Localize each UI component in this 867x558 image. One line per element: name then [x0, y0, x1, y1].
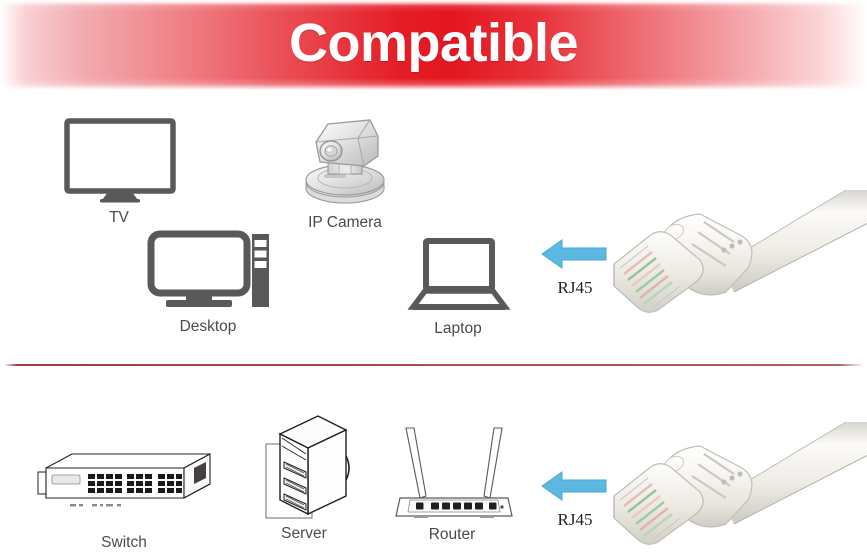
- device-tv: TV: [46, 118, 192, 230]
- header-banner: Compatible: [0, 0, 867, 90]
- wifi-router-icon: [390, 422, 516, 526]
- rj45-connector-bottom: RJ45: [534, 468, 616, 534]
- ip-camera-icon: [298, 112, 394, 208]
- device-label: Server: [252, 525, 356, 543]
- device-switch: Switch: [34, 452, 214, 558]
- device-label: Router: [382, 526, 522, 544]
- device-label: Switch: [34, 534, 214, 552]
- device-laptop: Laptop: [398, 238, 518, 342]
- connector-label: RJ45: [534, 278, 616, 298]
- rj45-ethernet-cable-image-bottom: [608, 420, 867, 550]
- device-desktop: Desktop: [140, 230, 276, 342]
- device-ip-camera: IP Camera: [290, 112, 400, 240]
- network-switch-icon: [34, 452, 214, 514]
- page-title: Compatible: [0, 0, 867, 90]
- arrow-left-icon: [540, 468, 608, 504]
- arrow-left-icon: [540, 236, 608, 272]
- device-router: Router: [382, 422, 522, 558]
- desktop-computer-icon: [148, 230, 270, 312]
- device-label: Desktop: [140, 318, 276, 336]
- compatibility-diagram: Compatible TV: [0, 0, 867, 558]
- device-label: Laptop: [398, 320, 518, 338]
- device-server: Server: [252, 412, 356, 558]
- laptop-icon: [412, 238, 506, 310]
- section-divider: [4, 364, 864, 366]
- connector-label: RJ45: [534, 510, 616, 530]
- device-label: TV: [46, 209, 192, 227]
- server-rack-icon: [262, 412, 350, 524]
- rj45-connector-top: RJ45: [534, 236, 616, 302]
- tv-icon: [64, 118, 176, 204]
- rj45-ethernet-cable-image-top: [608, 188, 867, 318]
- device-label: IP Camera: [290, 214, 400, 232]
